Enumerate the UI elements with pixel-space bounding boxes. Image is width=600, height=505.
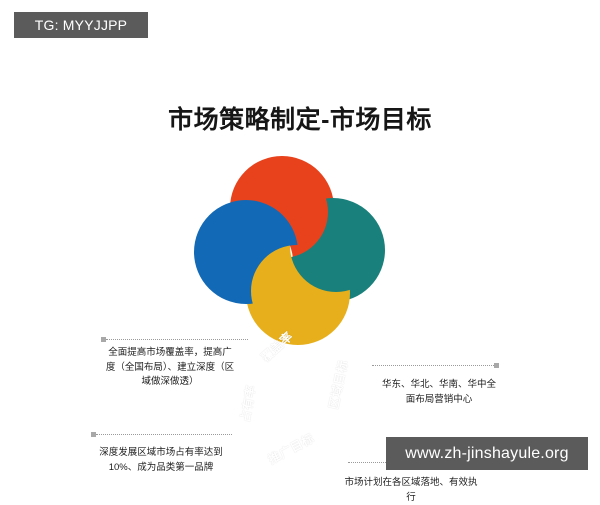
watermark-badge-top-left: TG: MYYJJPP [14,12,148,38]
petal-label-share: 占有率 [236,384,259,424]
petal-share[interactable] [190,150,400,350]
connector-marker-region [494,363,499,368]
callout-text-promotion: 市场计划在各区域落地、有效执行 [344,476,478,505]
page-title: 市场策略制定-市场目标 [0,100,600,136]
petal-label-promotion: 推广目标 [265,429,317,467]
petal-label-region: 区域目标 [324,358,351,410]
callout-text-coverage: 全面提高市场覆盖率，提高广度（全国布局）、建立深度（区域做深做透） [104,346,236,390]
callout-text-share: 深度发展区域市场占有率达到10%、成为品类第一品牌 [88,446,234,475]
connector-line-share [96,434,232,436]
watermark-badge-bottom-right: www.zh-jinshayule.org [386,437,588,470]
petal-shapes [190,150,400,350]
pinwheel-diagram: 覆盖率 区域目标 推广目标 占有率 全面提高市场覆盖率，提高广度（全国布局）、建… [0,150,600,380]
callout-text-region: 华东、华北、华南、华中全面布局营销中心 [378,378,500,407]
connector-line-region [372,365,494,367]
